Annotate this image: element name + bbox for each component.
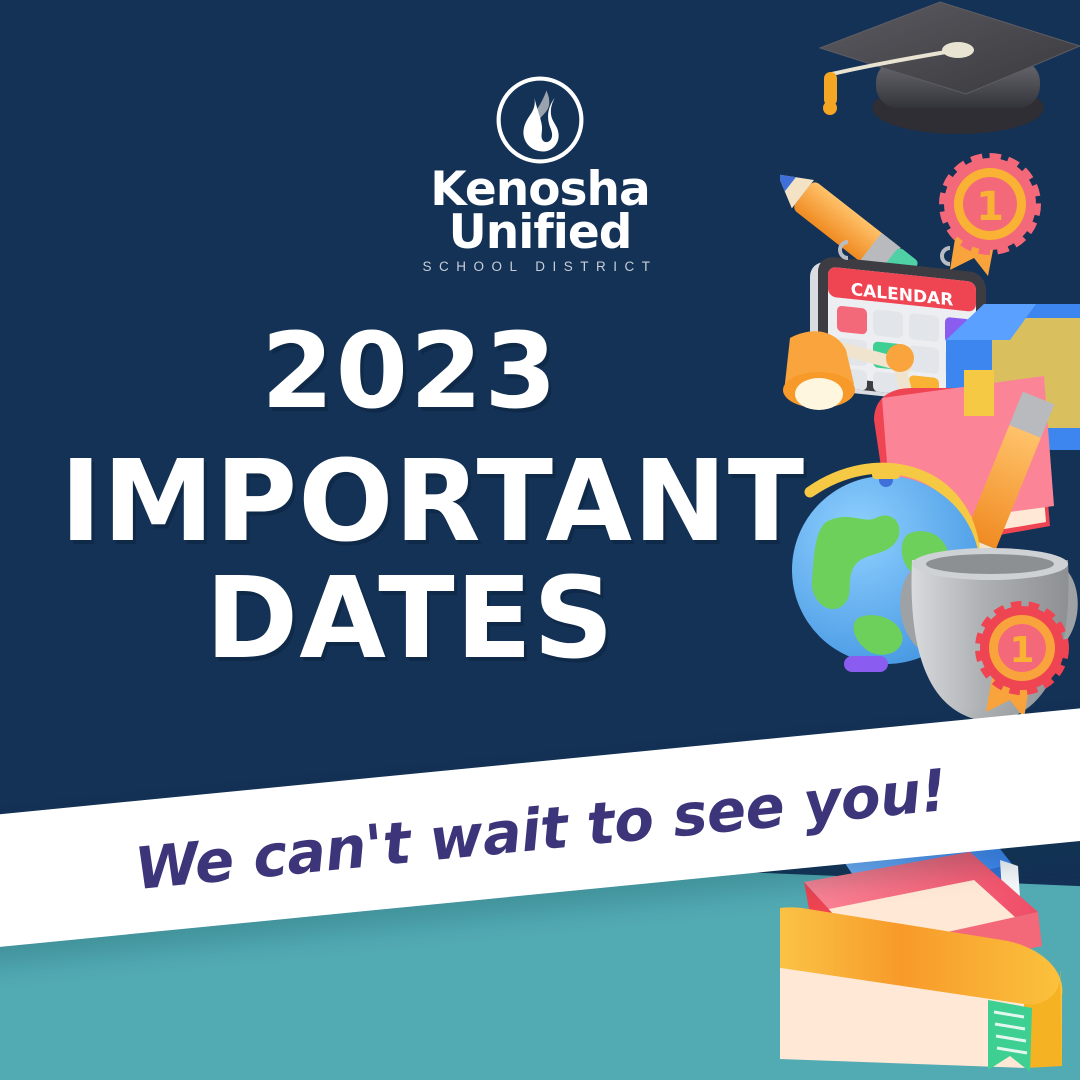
page-title: 2023 IMPORTANT DATES [60,318,760,677]
logo-subtitle: SCHOOL DISTRICT [422,261,657,273]
svg-text:1: 1 [1009,630,1034,671]
logo-wordmark: Kenosha Unified SCHOOL DISTRICT [422,168,657,274]
poster-canvas: 1 CALENDAR [0,0,1080,1080]
headline-line-2: DATES [60,561,760,677]
headline-line-1: IMPORTANT [60,444,760,560]
district-logo: Kenosha Unified SCHOOL DISTRICT [0,74,1080,274]
logo-line-2: Unified [422,211,657,254]
flame-in-circle-mark [494,74,586,166]
headline-year: 2023 [60,318,760,424]
